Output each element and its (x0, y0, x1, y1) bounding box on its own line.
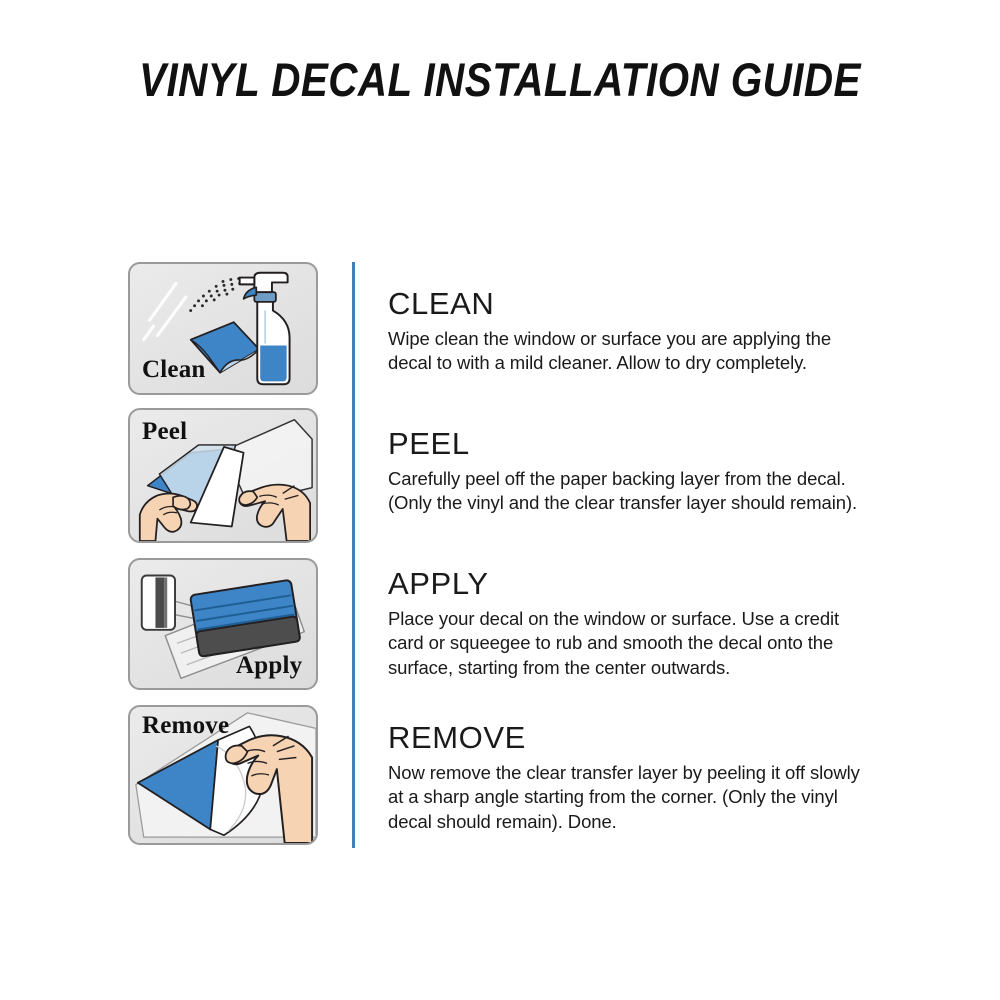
step-body-remove: Now remove the clear transfer layer by p… (388, 761, 908, 835)
panel-remove (128, 705, 318, 845)
hand-removing-transfer-layer-icon (130, 707, 316, 843)
step-line: surface, starting from the center outwar… (388, 656, 908, 681)
step-line: card or squeegee to rub and smooth the d… (388, 631, 908, 656)
step-heading-remove: REMOVE (388, 722, 908, 755)
spray-bottle-and-cloth-icon (130, 264, 316, 393)
step-apply: APPLY Place your decal on the window or … (388, 568, 908, 681)
step-line: at a sharp angle starting from the corne… (388, 785, 908, 810)
step-peel: PEEL Carefully peel off the paper backin… (388, 428, 908, 516)
two-hands-peeling-backing-icon (130, 410, 316, 541)
step-body-peel: Carefully peel off the paper backing lay… (388, 467, 908, 517)
step-line: (Only the vinyl and the clear transfer l… (388, 491, 908, 516)
step-clean: CLEAN Wipe clean the window or surface y… (388, 288, 908, 376)
vertical-divider (352, 262, 355, 848)
panel-apply (128, 558, 318, 690)
step-heading-peel: PEEL (388, 428, 908, 461)
step-body-apply: Place your decal on the window or surfac… (388, 607, 908, 681)
step-line: Now remove the clear transfer layer by p… (388, 761, 908, 786)
installation-guide: Clean Peel (0, 0, 1000, 1000)
step-line: decal to with a mild cleaner. Allow to d… (388, 351, 908, 376)
step-remove: REMOVE Now remove the clear transfer lay… (388, 722, 908, 835)
step-heading-apply: APPLY (388, 568, 908, 601)
step-heading-clean: CLEAN (388, 288, 908, 321)
step-line: Wipe clean the window or surface you are… (388, 327, 908, 352)
step-line: Carefully peel off the paper backing lay… (388, 467, 908, 492)
step-line: Place your decal on the window or surfac… (388, 607, 908, 632)
panel-clean (128, 262, 318, 395)
step-body-clean: Wipe clean the window or surface you are… (388, 327, 908, 377)
panel-peel (128, 408, 318, 543)
step-line: decal should remain). Done. (388, 810, 908, 835)
credit-card-and-squeegee-icon (130, 560, 316, 688)
